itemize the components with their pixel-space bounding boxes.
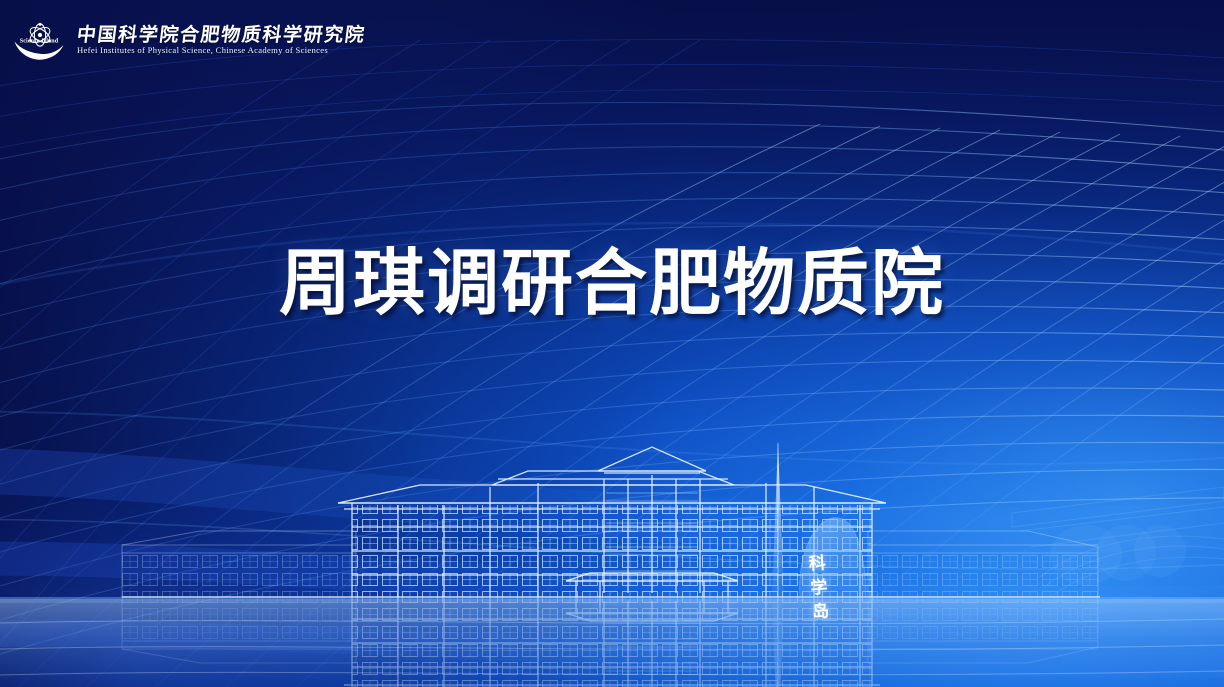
science-island-atom-icon: Science Island bbox=[12, 18, 68, 62]
monument-calligraphy: 科 学 岛 bbox=[804, 551, 835, 625]
title-slide: Science Island 中国科学院合肥物质科学研究院 Hefei Inst… bbox=[0, 0, 1224, 687]
monument-char-1: 科 bbox=[804, 551, 832, 577]
svg-text:Science Island: Science Island bbox=[20, 39, 59, 45]
main-building bbox=[120, 443, 1100, 597]
campus-illustration bbox=[0, 427, 1224, 687]
monument-char-2: 学 bbox=[805, 575, 833, 601]
institute-logo: Science Island 中国科学院合肥物质科学研究院 Hefei Inst… bbox=[12, 17, 365, 63]
slide-title: 周琪调研合肥物质院 bbox=[0, 247, 1224, 319]
logo-org-name-cn: 中国科学院合肥物质科学研究院 bbox=[76, 25, 367, 46]
logo-org-name-en: Hefei Institutes of Physical Science, Ch… bbox=[77, 46, 365, 55]
monument-char-3: 岛 bbox=[807, 599, 835, 625]
